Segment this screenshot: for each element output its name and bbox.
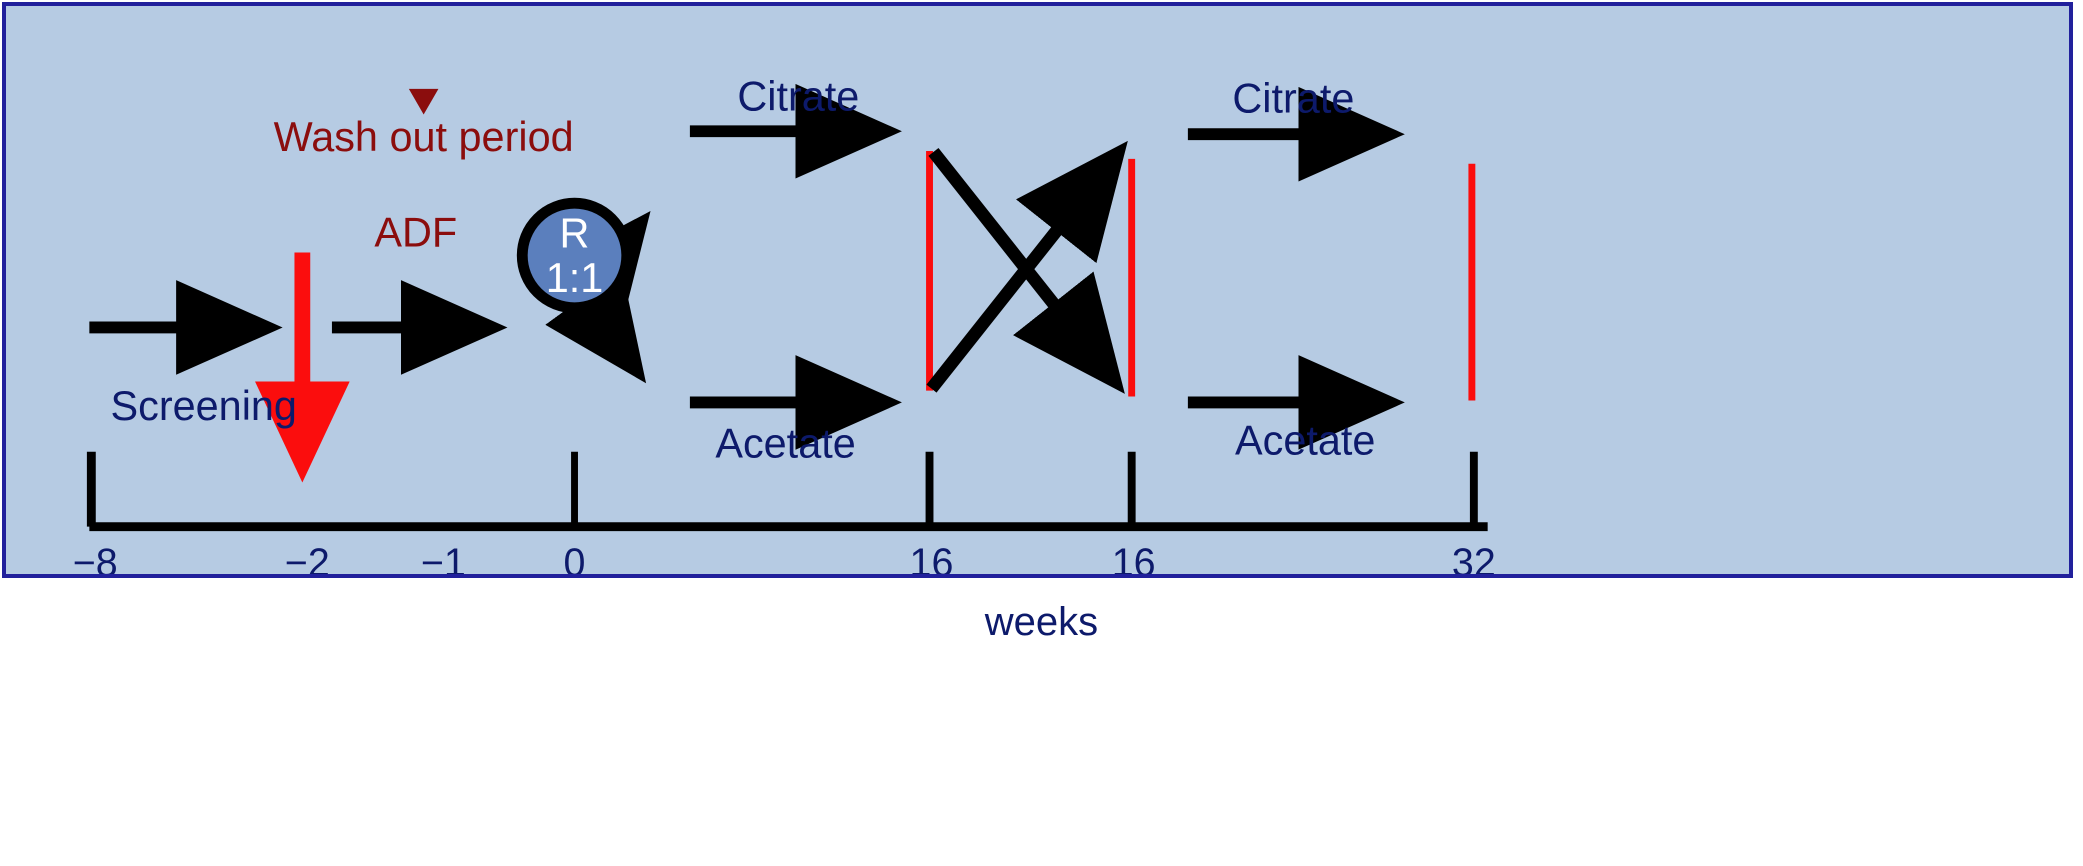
- weeks-caption: weeks: [0, 600, 2083, 645]
- diagram-panel: Wash out period ADF Screening R 1:1 Citr…: [2, 2, 2073, 578]
- adf-label: ADF: [374, 210, 457, 256]
- acetate-period2-label: Acetate: [1235, 418, 1375, 464]
- axis-tick-label-2: −1: [421, 541, 466, 574]
- axis-tick-label-4: 16: [910, 541, 954, 574]
- randomize-to-lower-arrow: [586, 301, 635, 369]
- figure-root: Wash out period ADF Screening R 1:1 Citr…: [0, 0, 2083, 866]
- axis-tick-label-1: −2: [285, 541, 330, 574]
- study-design-diagram: Wash out period ADF Screening R 1:1 Citr…: [6, 6, 2069, 574]
- axis-tick-label-3: 0: [564, 541, 586, 574]
- axis-tick-label-5: 16: [1112, 541, 1156, 574]
- randomization-node-label-line2: 1:1: [546, 255, 604, 301]
- axis-tick-label-0: −8: [73, 541, 118, 574]
- citrate-period2-label: Citrate: [1232, 75, 1354, 121]
- acetate-period1-label: Acetate: [715, 421, 855, 467]
- screening-label: Screening: [111, 383, 297, 429]
- citrate-period1-label: Citrate: [737, 74, 859, 120]
- axis-tick-label-6: 32: [1452, 541, 1496, 574]
- wash-out-period-label: Wash out period: [274, 114, 574, 160]
- randomization-node-label-line1: R: [560, 211, 590, 257]
- wash-out-marker-triangle: [409, 89, 439, 115]
